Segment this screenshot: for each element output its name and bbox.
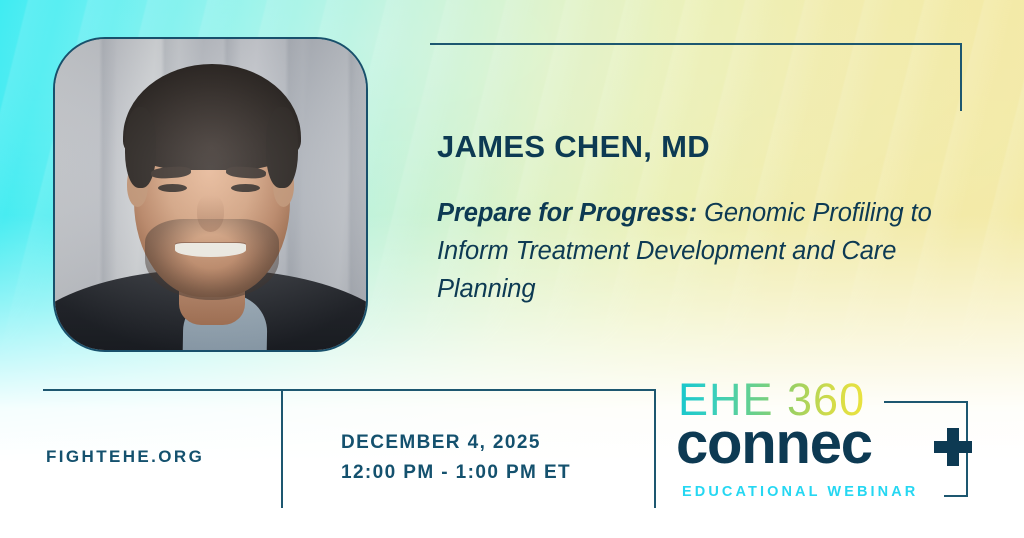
- ehe360-connect-logo: EHE 360 connec EDUCATIONAL WEBINAR: [676, 377, 966, 512]
- footer-divider-horizontal: [43, 389, 656, 391]
- speaker-headshot: [53, 37, 368, 352]
- event-time: 12:00 PM - 1:00 PM ET: [341, 458, 571, 488]
- event-datetime: DECEMBER 4, 2025 12:00 PM - 1:00 PM ET: [341, 428, 571, 488]
- headshot-vignette: [55, 39, 366, 350]
- event-date: DECEMBER 4, 2025: [341, 428, 571, 458]
- top-divider-vertical: [960, 43, 962, 111]
- talk-title: Prepare for Progress: Genomic Profiling …: [437, 194, 957, 308]
- site-url[interactable]: FIGHTEHE.ORG: [46, 447, 204, 467]
- speaker-name: JAMES CHEN, MD: [437, 129, 710, 165]
- webinar-promo-banner: JAMES CHEN, MD Prepare for Progress: Gen…: [0, 0, 1024, 538]
- logo-bracket-bottom: [944, 495, 968, 497]
- footer-divider-vertical-1: [281, 389, 283, 508]
- headshot-image: [55, 39, 366, 350]
- top-divider-horizontal: [430, 43, 962, 45]
- plus-icon: [934, 428, 972, 466]
- logo-tagline: EDUCATIONAL WEBINAR: [682, 484, 918, 500]
- talk-title-lead: Prepare for Progress:: [437, 199, 697, 227]
- footer-divider-vertical-2: [654, 389, 656, 508]
- logo-bracket-top: [884, 401, 968, 403]
- logo-brand-main: connec: [676, 413, 872, 475]
